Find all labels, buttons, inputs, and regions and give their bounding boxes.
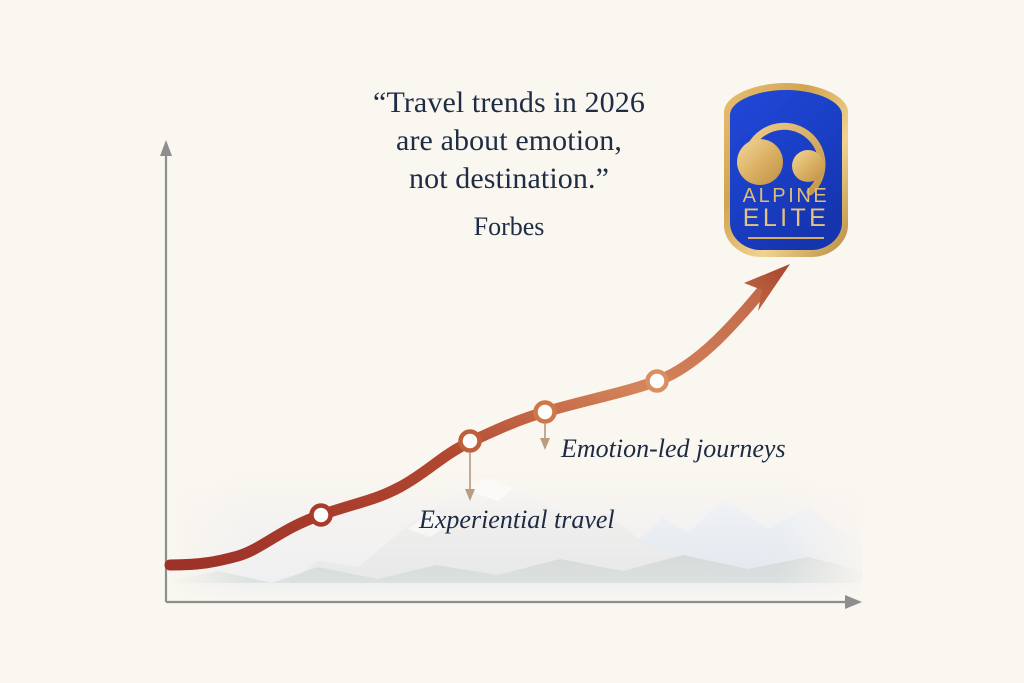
annotation-label-emotion-led-journeys: Emotion-led journeys xyxy=(561,434,786,464)
quote-source: Forbes xyxy=(338,210,680,244)
data-marker xyxy=(536,403,555,422)
alpine-elite-logo: ALPINE ELITE xyxy=(716,72,856,264)
emblem-sphere-small xyxy=(792,150,824,182)
annotation-arrow-emotion xyxy=(540,423,550,450)
data-marker xyxy=(648,372,667,391)
emblem-sphere-large xyxy=(737,139,783,185)
x-axis xyxy=(166,595,862,609)
quote-line-2: are about emotion, xyxy=(338,122,680,160)
data-marker xyxy=(312,506,331,525)
pull-quote: “Travel trends in 2026 are about emotion… xyxy=(338,84,680,244)
annotation-label-experiential-travel: Experiential travel xyxy=(419,505,615,535)
quote-line-3: not destination.” xyxy=(338,160,680,198)
quote-line-1: “Travel trends in 2026 xyxy=(338,84,680,122)
annotation-arrow-experiential xyxy=(465,452,475,501)
poster-canvas: “Travel trends in 2026 are about emotion… xyxy=(0,0,1024,683)
logo-badge-svg: ALPINE ELITE xyxy=(716,72,856,264)
logo-name-bottom: ELITE xyxy=(743,204,829,232)
data-marker xyxy=(461,432,480,451)
y-axis xyxy=(160,140,172,602)
